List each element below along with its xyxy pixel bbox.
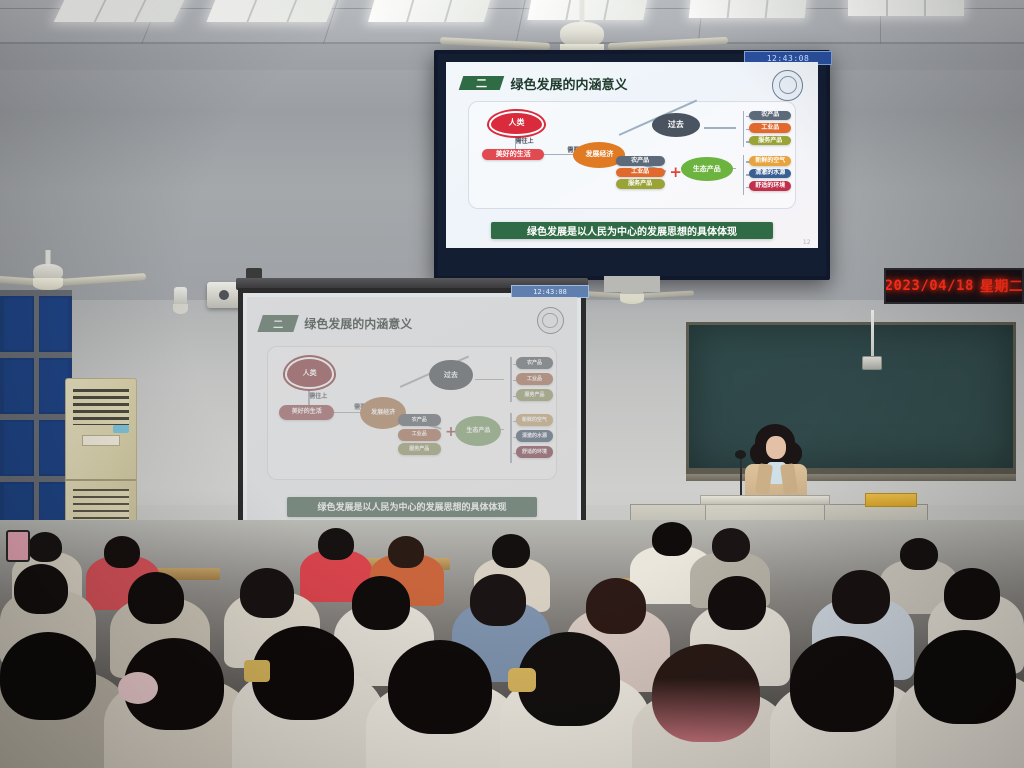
projected-node-right-top-label: 服务产品 (525, 393, 545, 398)
ceiling-light-panel (848, 0, 964, 16)
slide-banner-text: 绿色发展是以人民为中心的发展思想的具体体现 (527, 223, 737, 238)
projected-slide-section-number-badge: 二 (257, 315, 299, 332)
student-head (28, 532, 62, 562)
hanging-microphone-icon (862, 356, 882, 370)
node-human-label: 人类 (508, 119, 524, 127)
student-hair-accessory (118, 672, 158, 704)
projected-node-center-stack-label: 农产品 (412, 418, 427, 423)
projected-node-center-stack-label: 服务产品 (409, 447, 429, 452)
node-right-top-item: 农产品 (749, 111, 791, 121)
slide-diagram: 人类 需往上 美好的生活 需要 发展经济 (468, 101, 795, 209)
student-head (492, 534, 530, 568)
student-head (790, 636, 894, 732)
security-camera-icon (174, 287, 187, 307)
node-right-top-label: 服务产品 (758, 138, 782, 144)
slide-banner: 绿色发展是以人民为中心的发展思想的具体体现 (491, 222, 774, 239)
node-right-top-item: 工业品 (749, 123, 791, 133)
student-head (104, 536, 140, 568)
node-right-top-item: 服务产品 (749, 136, 791, 146)
student-head (712, 528, 750, 562)
projected-node-develop-economy-label: 发展经济 (371, 410, 395, 416)
chalk-tray (686, 474, 1016, 481)
node-right-bottom-item: 舒适的环境 (749, 181, 791, 191)
audience (0, 520, 1024, 768)
wall-mounted-display[interactable]: 12:43:08 二 绿色发展的内涵意义 (434, 50, 830, 280)
node-develop-economy-label: 发展经济 (585, 151, 613, 158)
node-right-bottom-item: 清澈的水源 (749, 169, 791, 179)
projected-node-past-label: 过去 (444, 372, 458, 379)
slide-title: 绿色发展的内涵意义 (510, 74, 627, 93)
projected-node-center-stack-label: 工业品 (412, 432, 427, 437)
projected-node-right-bottom-item: 清澈的水源 (516, 430, 553, 442)
projected-slide-diagram: 人类 需往上 美好的生活 需要 发展经济 过去 (267, 346, 557, 481)
student-head (388, 640, 492, 734)
student-head (388, 536, 424, 568)
slide-section-number-badge: 二 (459, 76, 505, 90)
projected-slide-banner: 绿色发展是以人民为中心的发展思想的具体体现 (287, 497, 538, 518)
projected-node-good-life-label: 美好的生活 (292, 409, 322, 415)
projected-slide-section-number: 二 (273, 316, 283, 331)
node-center-stack-item: 服务产品 (616, 179, 665, 189)
projected-node-eco-products: 生态产品 (455, 416, 501, 446)
student-head (944, 568, 1000, 620)
projected-node-right-top-item: 农产品 (516, 357, 553, 369)
projected-node-right-top-label: 工业品 (527, 377, 542, 382)
plus-symbol: + (669, 163, 682, 181)
projection-screen-surface: 二 绿色发展的内涵意义 人类 (247, 297, 577, 529)
projected-node-right-bottom-label: 清澈的水源 (522, 434, 547, 439)
projected-node-human: 人类 (285, 357, 334, 389)
led-date-text: 2023/04/18 (885, 278, 974, 294)
student-head (0, 632, 96, 720)
node-right-bottom-label: 新鲜的空气 (755, 158, 785, 164)
node-eco-products: 生态产品 (681, 157, 733, 181)
connector (475, 379, 504, 381)
ceiling-fan (0, 250, 120, 298)
projected-slide-header: 二 绿色发展的内涵意义 (260, 309, 564, 339)
projected-node-right-bottom-label: 舒适的环境 (522, 450, 547, 455)
lecture-hall-photo: 2023/04/18 星期二 12:43:08 二 绿色发展的内涵意义 (0, 0, 1024, 768)
node-past-label: 过去 (668, 121, 684, 129)
student-head (240, 568, 294, 618)
node-right-bottom-item: 新鲜的空气 (749, 156, 791, 166)
ceiling-light-panel (368, 0, 492, 22)
ceiling-light-panel (689, 0, 808, 18)
slide-section-number: 二 (476, 75, 487, 91)
student-head (832, 570, 890, 624)
projected-slide-banner-text: 绿色发展是以人民为中心的发展思想的具体体现 (317, 500, 506, 513)
projected-slide-green-development: 二 绿色发展的内涵意义 人类 (247, 297, 577, 529)
projected-label-edge-up-text: 需往上 (309, 394, 327, 400)
projected-slide-title: 绿色发展的内涵意义 (304, 315, 412, 332)
projected-node-right-bottom-item: 新鲜的空气 (516, 414, 553, 426)
projector-timestamp-text: 12:43:08 (533, 288, 567, 296)
node-good-life-label: 美好的生活 (496, 151, 531, 158)
projected-node-eco-products-label: 生态产品 (466, 428, 490, 434)
ceiling-light-panel (54, 0, 187, 22)
lecturer-face (766, 436, 786, 459)
projected-node-right-bottom-label: 新鲜的空气 (522, 418, 547, 423)
projection-screen[interactable]: 12:43:08 二 绿色发展的内涵意义 (238, 288, 586, 538)
node-center-stack-label: 工业品 (631, 169, 649, 175)
slide-green-development: 二 绿色发展的内涵意义 人类 (446, 62, 818, 248)
connector (704, 127, 737, 129)
projected-node-human-label: 人类 (303, 370, 317, 377)
led-weekday-text: 星期二 (980, 276, 1024, 296)
student-head (318, 528, 354, 560)
projected-node-right-bottom-item: 舒适的环境 (516, 446, 553, 458)
student-head (652, 522, 692, 556)
connector-vertical-rail (510, 357, 512, 402)
projected-node-right-top-label: 农产品 (527, 361, 542, 366)
projected-node-good-life: 美好的生活 (279, 405, 334, 420)
led-date-sign: 2023/04/18 星期二 (884, 268, 1024, 304)
projected-node-right-top-item: 服务产品 (516, 389, 553, 401)
projected-node-center-stack-item: 工业品 (398, 429, 441, 441)
phone-icon (6, 530, 30, 562)
projected-node-center-stack-item: 农产品 (398, 414, 441, 426)
student-head (470, 574, 526, 626)
node-right-bottom-label: 舒适的环境 (755, 183, 785, 189)
projected-node-center-stack-item: 服务产品 (398, 443, 441, 455)
microphone-icon (735, 450, 746, 459)
node-good-life: 美好的生活 (482, 149, 544, 161)
slide-page-number: 12 (803, 239, 811, 246)
hanging-mic-wire (871, 310, 874, 358)
yellow-box (865, 493, 917, 507)
plus-symbol-text: + (669, 163, 682, 181)
student-head (914, 630, 1016, 724)
node-center-stack-item: 工业品 (616, 168, 665, 178)
label-edge-up-text: 需往上 (516, 139, 534, 145)
university-emblem-icon (772, 70, 803, 101)
node-past: 过去 (652, 113, 701, 137)
connector-vertical-rail (743, 155, 745, 195)
tv-stand (604, 276, 660, 292)
projected-node-past: 过去 (429, 360, 472, 390)
connector-vertical-rail (743, 111, 745, 147)
student-head (128, 572, 184, 624)
node-human: 人类 (489, 111, 544, 136)
node-center-stack-label: 服务产品 (628, 181, 652, 187)
slide-header: 二 绿色发展的内涵意义 (461, 71, 803, 95)
node-center-stack-label: 农产品 (631, 158, 649, 164)
node-center-stack-item: 农产品 (616, 156, 665, 166)
node-eco-products-label: 生态产品 (693, 166, 721, 173)
student-head (352, 576, 410, 630)
student-head (14, 564, 68, 614)
student-head (900, 538, 938, 570)
student-head-dyed (652, 644, 760, 742)
hair-clip-icon (508, 668, 536, 692)
hair-clip-icon (244, 660, 270, 682)
student-head (708, 576, 766, 630)
ceiling-light-panel (206, 0, 337, 22)
node-right-bottom-label: 清澈的水源 (755, 170, 785, 176)
node-right-top-label: 农产品 (761, 112, 779, 118)
connector-vertical-rail (510, 413, 512, 463)
projected-node-right-top-item: 工业品 (516, 373, 553, 385)
student-head (586, 578, 646, 634)
tv-screen: 二 绿色发展的内涵意义 人类 (446, 62, 818, 248)
projected-university-emblem-icon (537, 307, 564, 334)
node-right-top-label: 工业品 (761, 125, 779, 131)
